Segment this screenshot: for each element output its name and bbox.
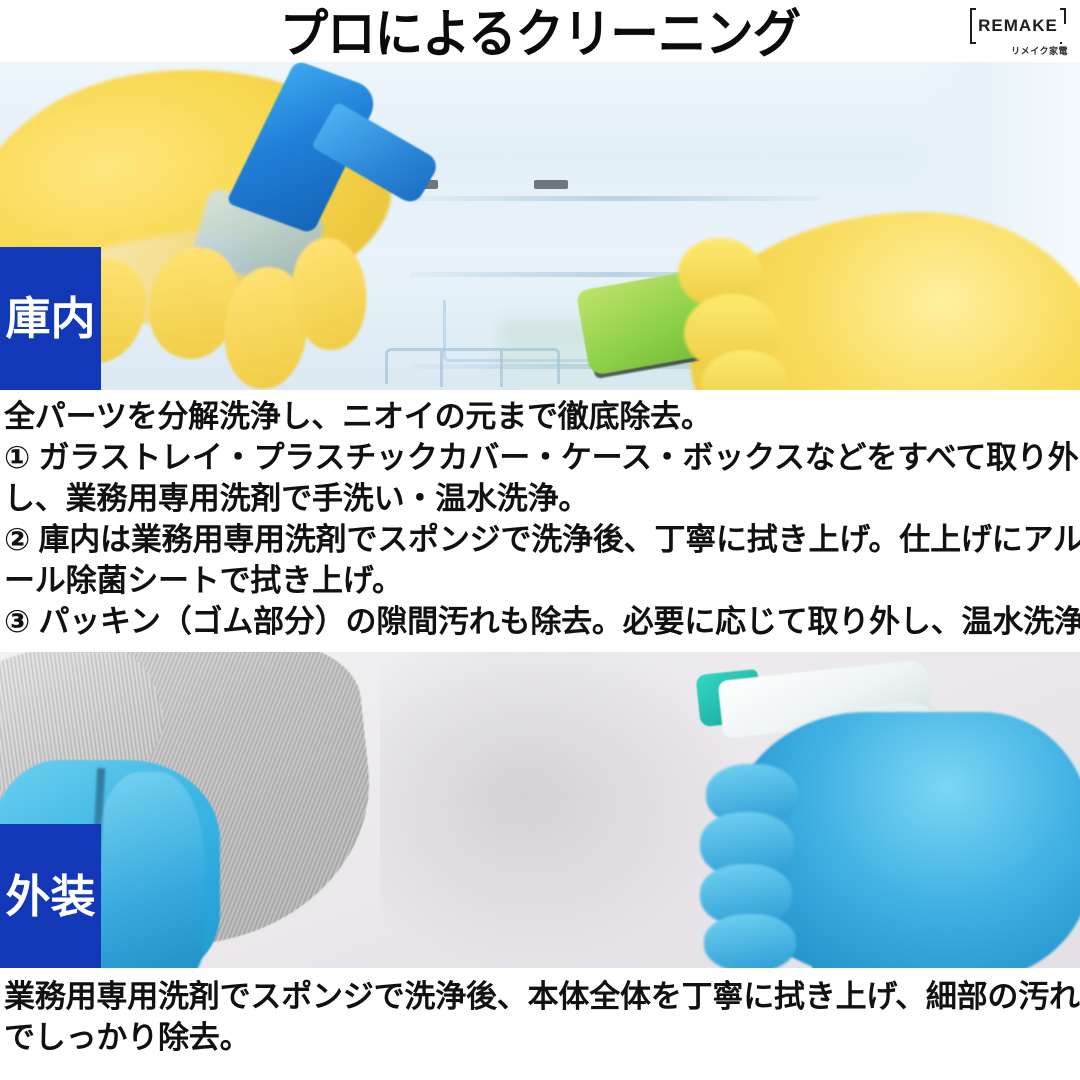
fridge-shelf: [410, 196, 820, 201]
page-header: プロによるクリーニング REMAKE リメイク家電: [0, 0, 1080, 62]
description-line: 全パーツを分解洗浄し、ニオイの元まで徹底除去。: [4, 396, 1076, 437]
photo-interior: 庫内: [0, 62, 1080, 390]
photo-exterior: 外装: [0, 652, 1080, 968]
shelf-clip: [534, 180, 568, 189]
description-line: でしっかり除去。: [4, 1017, 1076, 1058]
description-line: 業務用専用洗剤でスポンジで洗浄後、本体全体を丁寧に拭き上げ、細部の汚れま: [4, 976, 1076, 1017]
page-title: プロによるクリーニング: [38, 0, 1042, 60]
description-line: ② 庫内は業務用専用洗剤でスポンジで洗浄後、丁寧に拭き上げ。仕上げにアルコ: [4, 519, 1076, 560]
section-badge-exterior: 外装: [0, 824, 101, 968]
logo-subtitle: リメイク家電: [1009, 44, 1070, 57]
fridge-scene: [0, 62, 1080, 390]
description-exterior: 業務用専用洗剤でスポンジで洗浄後、本体全体を丁寧に拭き上げ、細部の汚れま でしっ…: [0, 968, 1080, 1080]
exterior-scene: [0, 652, 1080, 968]
promo-page: プロによるクリーニング REMAKE リメイク家電: [0, 0, 1080, 1080]
blue-glove-left-fingers: [96, 772, 204, 968]
surface-shadow: [380, 652, 740, 968]
description-line: ③ パッキン（ゴム部分）の隙間汚れも除去。必要に応じて取り外し、温水洗浄。: [4, 601, 1076, 642]
description-line: ール除菌シートで拭き上げ。: [4, 560, 1076, 601]
section-badge-interior: 庫内: [0, 247, 101, 390]
glove-finger: [704, 914, 796, 968]
description-line: し、業務用専用洗剤で手洗い・温水洗浄。: [4, 478, 1076, 519]
description-interior: 全パーツを分解洗浄し、ニオイの元まで徹底除去。 ① ガラストレイ・プラスチックカ…: [0, 390, 1080, 652]
brand-logo: REMAKE リメイク家電: [966, 6, 1072, 58]
description-line: ① ガラストレイ・プラスチックカバー・ケース・ボックスなどをすべて取り外: [4, 437, 1076, 478]
logo-wordmark: REMAKE: [976, 8, 1060, 44]
